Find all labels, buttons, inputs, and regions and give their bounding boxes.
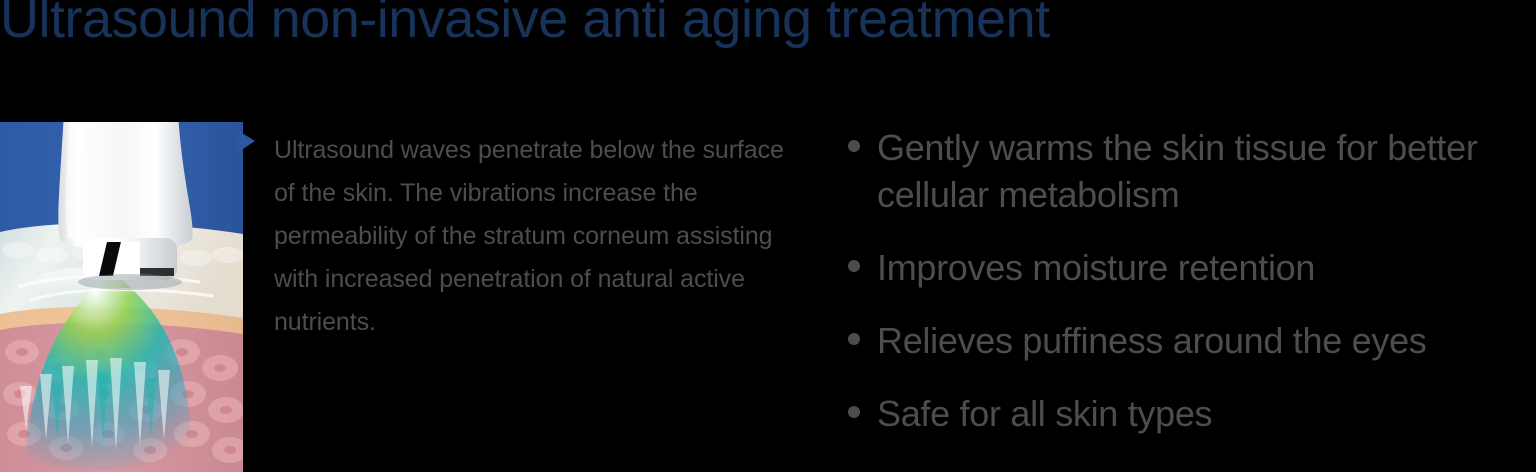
ultrasound-illustration	[0, 122, 243, 472]
bullet-dot-icon	[848, 260, 860, 272]
pointer-arrow	[237, 130, 257, 154]
list-item: Relieves puffiness around the eyes	[848, 317, 1536, 364]
list-item: Improves moisture retention	[848, 244, 1536, 291]
ultrasound-illustration-graphic	[0, 122, 243, 472]
description-paragraph: Ultrasound waves penetrate below the sur…	[274, 129, 794, 344]
pointer-arrow-icon	[237, 130, 257, 154]
list-item-label: Improves moisture retention	[877, 244, 1536, 291]
bullet-dot-icon	[848, 140, 860, 152]
list-item-label: Safe for all skin types	[877, 390, 1536, 437]
slide-root: Ultrasound non-invasive anti aging treat…	[0, 0, 1536, 472]
bullet-dot-icon	[848, 406, 860, 418]
bullet-dot-icon	[848, 333, 860, 345]
list-item: Safe for all skin types	[848, 390, 1536, 437]
benefits-list: Gently warms the skin tissue for better …	[848, 124, 1536, 437]
page-title: Ultrasound non-invasive anti aging treat…	[0, 0, 1300, 48]
list-item: Gently warms the skin tissue for better …	[848, 124, 1536, 218]
list-item-label: Relieves puffiness around the eyes	[877, 317, 1536, 364]
list-item-label: Gently warms the skin tissue for better …	[877, 124, 1536, 218]
